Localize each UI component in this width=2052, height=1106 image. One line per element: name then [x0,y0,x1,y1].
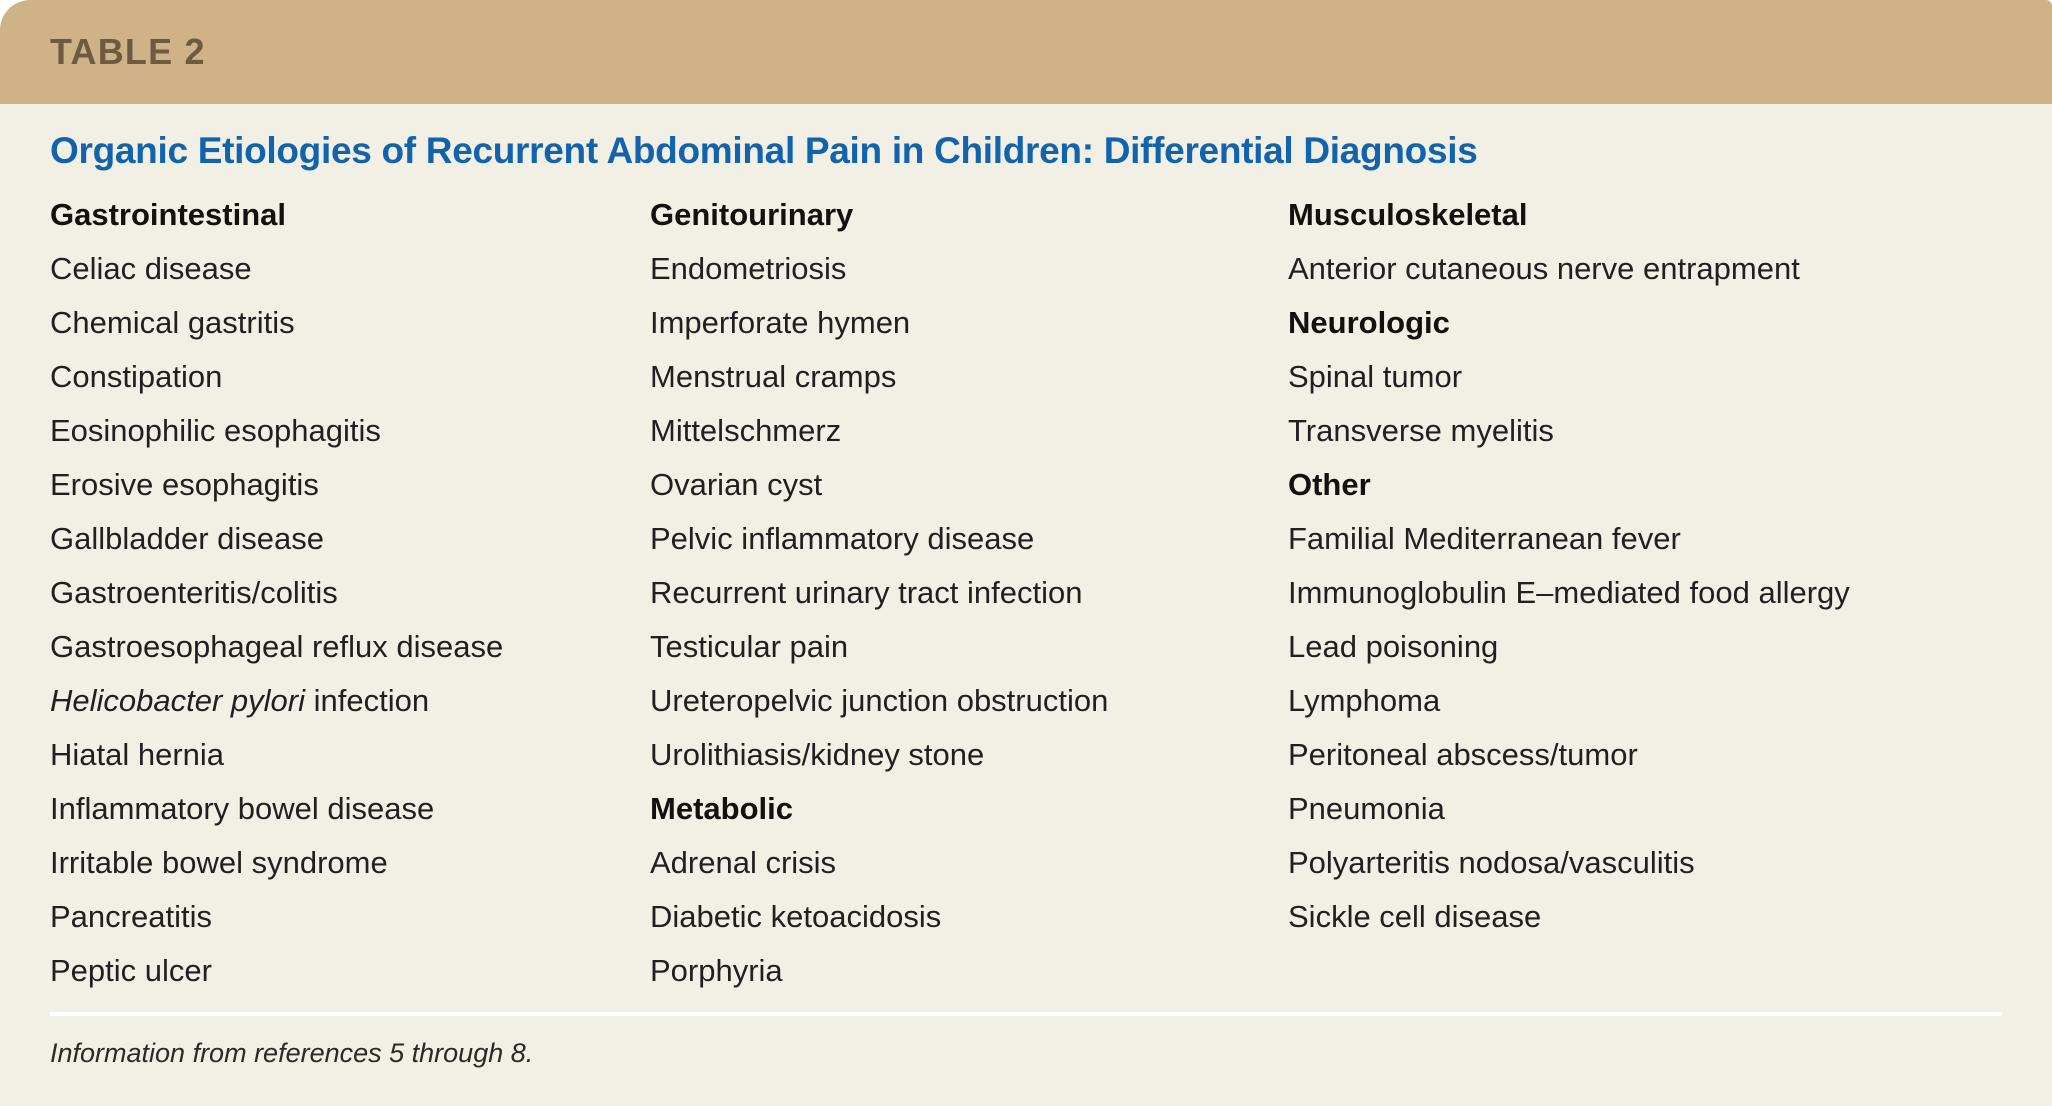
category-heading: Neurologic [1288,296,1988,350]
etiology-item: Immunoglobulin E–mediated food allergy [1288,566,1988,620]
etiology-item: Pelvic inflammatory disease [650,512,1288,566]
etiology-item: Lymphoma [1288,674,1988,728]
etiology-item: Gastroesophageal reflux disease [50,620,650,674]
etiology-item: Pneumonia [1288,782,1988,836]
category-heading: Genitourinary [650,188,1288,242]
table-title: Organic Etiologies of Recurrent Abdomina… [50,130,2002,172]
etiology-item: Endometriosis [650,242,1288,296]
etiology-item: Anterior cutaneous nerve entrapment [1288,242,1988,296]
etiology-item: Porphyria [650,944,1288,998]
etiology-item: Inflammatory bowel disease [50,782,650,836]
etiology-item: Gallbladder disease [50,512,650,566]
etiology-item: Recurrent urinary tract infection [650,566,1288,620]
table-column-3: MusculoskeletalAnterior cutaneous nerve … [1288,188,1988,944]
etiology-item: Helicobacter pylori infection [50,674,650,728]
etiology-item: Hiatal hernia [50,728,650,782]
table-number-label: TABLE 2 [50,31,206,73]
etiology-item: Spinal tumor [1288,350,1988,404]
etiology-item: Peritoneal abscess/tumor [1288,728,1988,782]
footer-note: Information from references 5 through 8. [50,1016,2002,1069]
category-heading: Gastrointestinal [50,188,650,242]
etiology-item: Polyarteritis nodosa/vasculitis [1288,836,1988,890]
etiology-item: Peptic ulcer [50,944,650,998]
category-heading: Metabolic [650,782,1288,836]
etiology-item: Imperforate hymen [650,296,1288,350]
etiology-item: Ureteropelvic junction obstruction [650,674,1288,728]
etiology-item: Familial Mediterranean fever [1288,512,1988,566]
etiology-item: Erosive esophagitis [50,458,650,512]
etiology-item: Irritable bowel syndrome [50,836,650,890]
etiology-item: Menstrual cramps [650,350,1288,404]
etiology-item: Pancreatitis [50,890,650,944]
etiology-item: Mittelschmerz [650,404,1288,458]
etiology-item: Ovarian cyst [650,458,1288,512]
etiology-item: Transverse myelitis [1288,404,1988,458]
scientific-name: Helicobacter pylori [50,683,305,718]
category-heading: Musculoskeletal [1288,188,1988,242]
table-card: TABLE 2 Organic Etiologies of Recurrent … [0,0,2052,1106]
etiology-item: Celiac disease [50,242,650,296]
etiology-item: Constipation [50,350,650,404]
etiology-item: Testicular pain [650,620,1288,674]
etiology-item: Chemical gastritis [50,296,650,350]
etiology-item: Eosinophilic esophagitis [50,404,650,458]
etiology-item: Lead poisoning [1288,620,1988,674]
table-column-2: GenitourinaryEndometriosisImperforate hy… [650,188,1288,998]
etiology-item: Diabetic ketoacidosis [650,890,1288,944]
table-columns: GastrointestinalCeliac diseaseChemical g… [50,188,2002,998]
etiology-item: Adrenal crisis [650,836,1288,890]
table-body: Organic Etiologies of Recurrent Abdomina… [0,130,2052,1069]
table-column-1: GastrointestinalCeliac diseaseChemical g… [50,188,650,998]
etiology-item: Urolithiasis/kidney stone [650,728,1288,782]
etiology-item: Sickle cell disease [1288,890,1988,944]
etiology-item: Gastroenteritis/colitis [50,566,650,620]
category-heading: Other [1288,458,1988,512]
table-banner: TABLE 2 [0,0,2052,104]
